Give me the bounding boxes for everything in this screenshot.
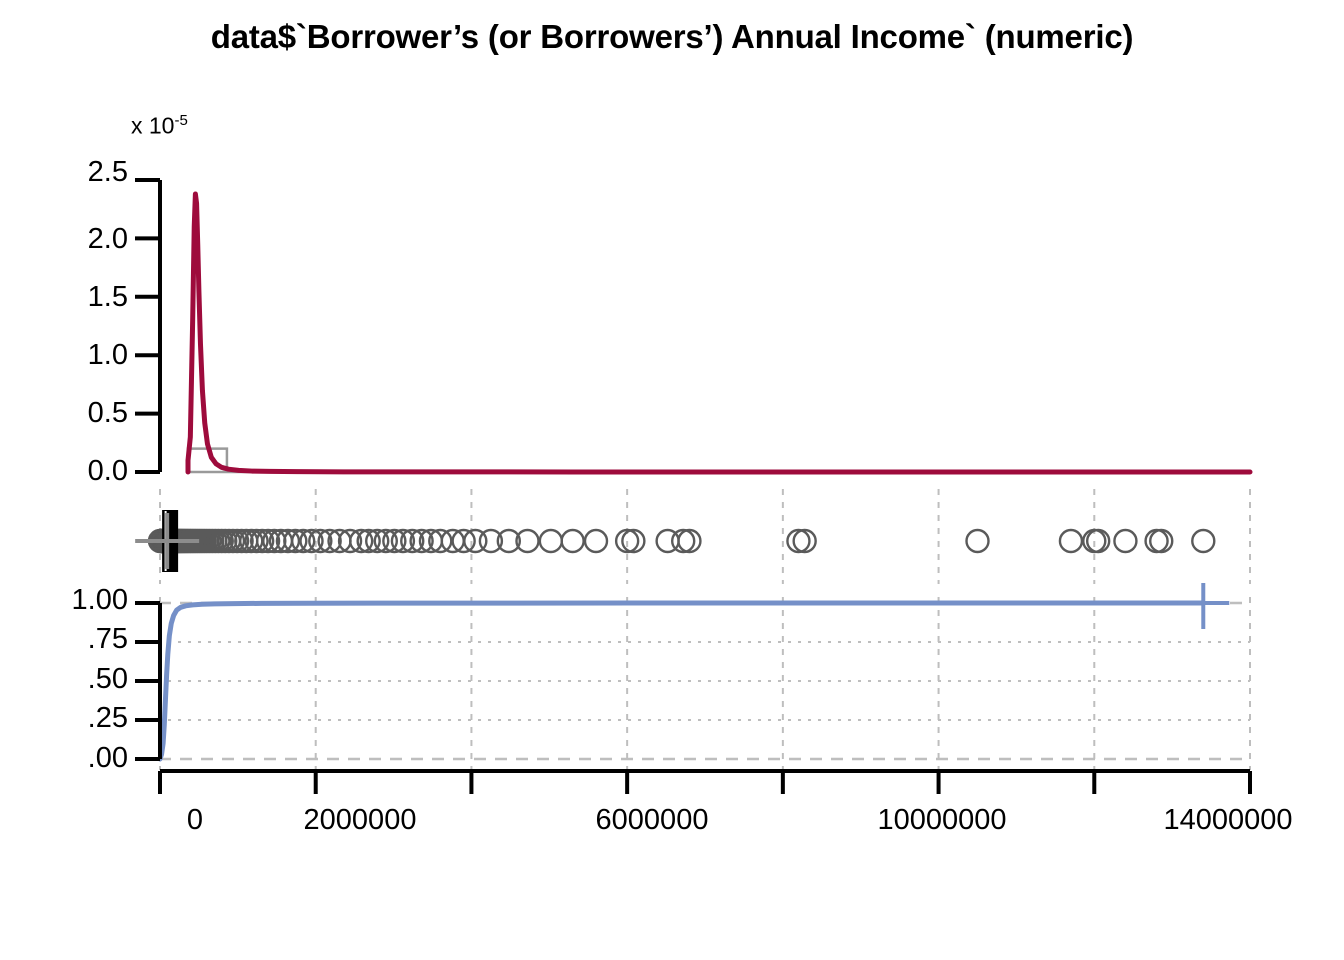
- data-point: [1060, 530, 1082, 552]
- plot-canvas: [0, 0, 1344, 960]
- density-curve: [188, 194, 1250, 472]
- axis-lines: [135, 180, 1250, 794]
- data-point: [1150, 530, 1172, 552]
- data-point: [1114, 530, 1136, 552]
- ecdf-panel: [160, 583, 1229, 759]
- distribution-figure: data$`Borrower’s (or Borrowers’) Annual …: [0, 0, 1344, 960]
- data-point: [967, 530, 989, 552]
- data-point-max: [1192, 530, 1214, 552]
- density-panel: [188, 194, 1250, 472]
- data-point: [1146, 530, 1168, 552]
- strip-panel: [135, 511, 1214, 571]
- data-point: [540, 530, 562, 552]
- data-point: [585, 530, 607, 552]
- data-point: [562, 530, 584, 552]
